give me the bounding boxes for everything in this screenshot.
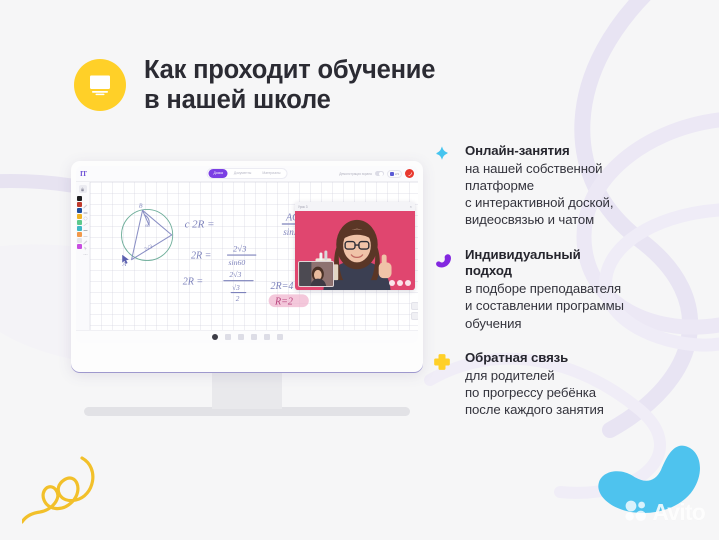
segment-materials[interactable]: Материалы — [257, 169, 285, 178]
palette-row[interactable] — [77, 244, 88, 249]
more-icon[interactable] — [405, 280, 411, 286]
svg-text:B: B — [139, 204, 143, 210]
avito-brand-text: Avito — [652, 499, 705, 526]
text-tool-icon[interactable] — [83, 226, 88, 231]
video-window-title: Урок 3 — [298, 205, 307, 209]
feature-body: в подборе преподавателя и составлении пр… — [465, 280, 624, 331]
topbar-right-group: Демонстрация экрана 2/3 — [339, 169, 414, 178]
swatch-grey[interactable] — [77, 238, 82, 243]
feature-item: Индивидуальный подход в подборе преподав… — [428, 247, 700, 332]
app-main: B A 60 2√3 c — [76, 182, 418, 330]
star-icon — [428, 143, 455, 167]
app-bottom-toolbar[interactable] — [76, 330, 418, 343]
settings-icon[interactable] — [277, 334, 283, 340]
feature-item: Обратная связь для родителей по прогресс… — [428, 350, 700, 418]
svg-text:2√3: 2√3 — [143, 243, 154, 253]
feature-title: Обратная связь — [465, 350, 604, 367]
svg-text:2R=4: 2R=4 — [270, 281, 293, 292]
close-icon[interactable]: × — [410, 205, 412, 209]
swatch-teal[interactable] — [77, 226, 82, 231]
app-logo: IT — [80, 170, 86, 178]
feature-text: Обратная связь для родителей по прогресс… — [465, 350, 604, 418]
svg-text:2√3: 2√3 — [233, 243, 247, 253]
swatch-red[interactable] — [77, 202, 82, 207]
monitor-neck — [212, 373, 282, 409]
eraser-tool-icon[interactable] — [83, 202, 88, 207]
monitor-illustration: IT Доска Документы Материалы Демонстраци… — [71, 161, 423, 417]
feature-title: Онлайн-занятия — [465, 143, 613, 160]
grid-icon[interactable] — [264, 334, 270, 340]
swatch-magenta[interactable] — [77, 244, 82, 249]
palette-row[interactable] — [77, 214, 88, 219]
feature-body: на нашей собственной платформе с интерак… — [465, 160, 613, 229]
video-controls[interactable] — [389, 280, 411, 286]
segment-doska[interactable]: Доска — [209, 169, 228, 178]
whiteboard-app: IT Доска Документы Материалы Демонстраци… — [76, 166, 418, 343]
svg-text:60: 60 — [145, 223, 150, 228]
lock-tool-icon[interactable] — [79, 185, 87, 193]
redo-icon[interactable] — [238, 334, 244, 340]
swatch-green[interactable] — [77, 220, 82, 225]
palette-row[interactable] — [77, 220, 88, 225]
slide-canvas: Как проходит обучение в нашей школе IT Д… — [0, 0, 719, 540]
swatch-yellow[interactable] — [77, 214, 82, 219]
svg-text:2√3: 2√3 — [229, 270, 241, 279]
monitor-bezel: IT Доска Документы Материалы Демонстраци… — [71, 161, 423, 372]
participants-icon — [390, 172, 394, 176]
feature-item: Онлайн-занятия на нашей собственной плат… — [428, 143, 700, 229]
palette-row[interactable] — [77, 238, 88, 243]
video-window-titlebar: Урок 3 × — [295, 202, 415, 211]
svg-text:2R =: 2R = — [183, 276, 203, 287]
page-title: Как проходит обучение в нашей школе — [144, 56, 435, 115]
video-side-buttons[interactable] — [411, 302, 418, 320]
screenshare-label: Демонстрация экрана — [339, 172, 372, 176]
shape-tool-icon[interactable] — [83, 208, 88, 213]
add-page-icon[interactable] — [251, 334, 257, 340]
palette-row[interactable] — [77, 208, 88, 213]
highlighter-tool-icon[interactable] — [83, 220, 88, 225]
svg-text:R=2: R=2 — [274, 296, 293, 307]
svg-text:2R =: 2R = — [191, 251, 211, 262]
svg-text:c 2R =: c 2R = — [185, 219, 215, 231]
monitor-icon — [74, 59, 126, 111]
select-tool-icon[interactable] — [83, 238, 88, 243]
segmented-control[interactable]: Доска Документы Материалы — [207, 168, 288, 179]
plus-icon — [428, 350, 455, 372]
pen-tool-icon[interactable] — [83, 196, 88, 201]
swatch-orange[interactable] — [77, 232, 82, 237]
screenshare-toggle[interactable] — [375, 171, 384, 176]
feature-title: Индивидуальный подход — [465, 247, 624, 281]
video-stage — [295, 211, 415, 290]
svg-text:sin60: sin60 — [228, 258, 245, 267]
participants-count: 2/3 — [395, 172, 399, 176]
svg-text:2: 2 — [236, 294, 240, 303]
pen-color-icon[interactable] — [212, 334, 218, 340]
svg-text:√3: √3 — [232, 283, 240, 292]
marker-tool-icon[interactable] — [83, 232, 88, 237]
zoom-icon[interactable] — [411, 312, 418, 320]
segment-documents[interactable]: Документы — [229, 169, 256, 178]
expand-icon[interactable] — [411, 302, 418, 310]
camera-icon[interactable] — [397, 280, 403, 286]
header: Как проходит обучение в нашей школе — [74, 56, 435, 115]
palette-row[interactable] — [77, 202, 88, 207]
whiteboard-canvas[interactable]: B A 60 2√3 c — [90, 182, 418, 330]
video-call-window[interactable]: Урок 3 × — [295, 202, 415, 290]
app-topbar: IT Доска Документы Материалы Демонстраци… — [76, 166, 418, 182]
mic-icon[interactable] — [389, 280, 395, 286]
more-tools-icon[interactable] — [83, 244, 88, 249]
line-tool-icon[interactable] — [83, 214, 88, 219]
swatch-black[interactable] — [77, 196, 82, 201]
crescent-icon — [428, 247, 455, 273]
participants-badge[interactable]: 2/3 — [387, 170, 402, 178]
self-view-thumbnail[interactable] — [298, 261, 334, 287]
undo-icon[interactable] — [225, 334, 231, 340]
palette-row[interactable] — [77, 226, 88, 231]
palette-row[interactable] — [77, 232, 88, 237]
feature-list: Онлайн-занятия на нашей собственной плат… — [428, 143, 700, 418]
phone-hangup-icon[interactable] — [405, 169, 414, 178]
feature-text: Индивидуальный подход в подборе преподав… — [465, 247, 624, 332]
tool-rail[interactable] — [76, 182, 90, 330]
feature-body: для родителей по прогрессу ребёнка после… — [465, 367, 604, 418]
swatch-blue[interactable] — [77, 208, 82, 213]
feature-text: Онлайн-занятия на нашей собственной плат… — [465, 143, 613, 229]
avito-logo-icon — [623, 497, 649, 528]
palette-row[interactable] — [77, 196, 88, 201]
squiggle-decoration — [22, 452, 132, 536]
avito-watermark: Avito — [623, 497, 705, 528]
